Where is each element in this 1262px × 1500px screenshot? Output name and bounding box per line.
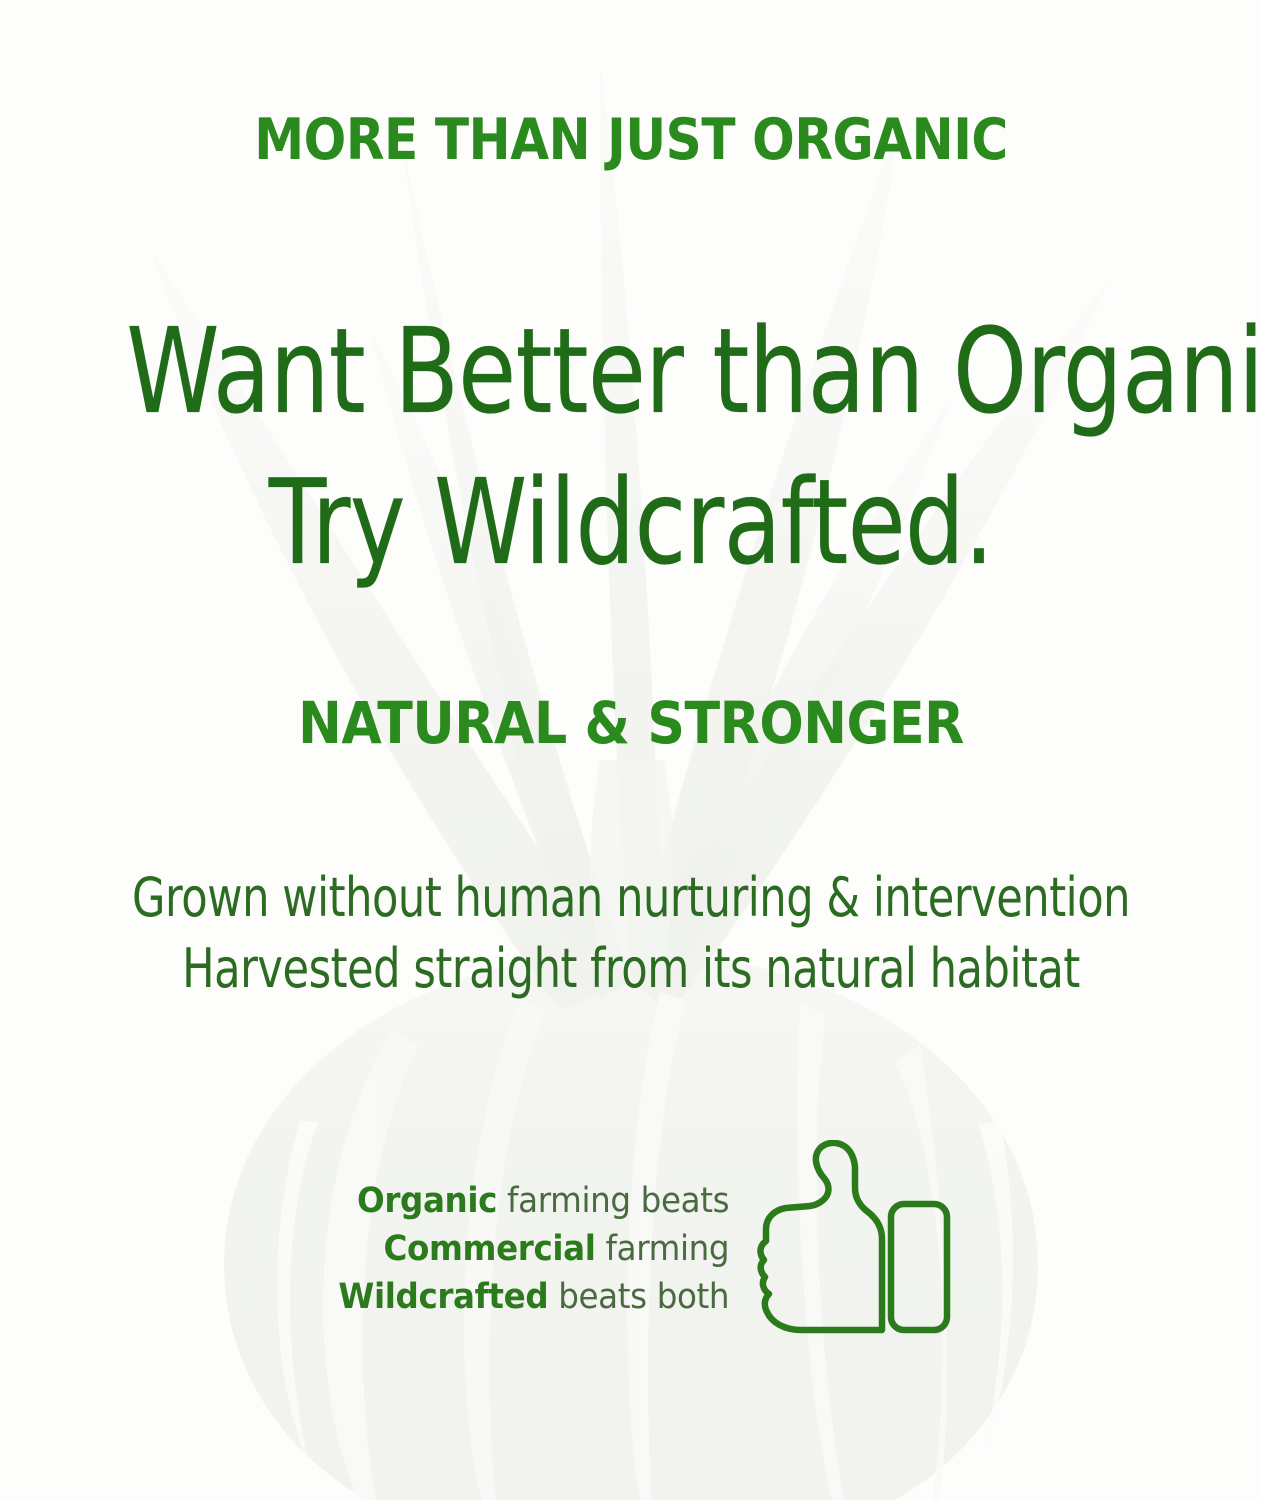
body-line-2: Harvested straight from its natural habi… [126,933,1136,1004]
thumbs-up-icon [741,1140,953,1340]
claim-row-2: Commercial farming [338,1225,729,1273]
subheading: NATURAL & STRONGER [63,694,1199,752]
headline-line-1: Want Better than Organic? [126,296,1136,447]
eyebrow-heading: MORE THAN JUST ORGANIC [76,112,1187,169]
claim-row-3-bold: Wildcrafted [338,1277,548,1317]
claim-text: Organic farming beats Commercial farming… [338,1177,729,1322]
claim-row-3-rest: beats both [548,1277,729,1317]
claim-row-1-bold: Organic [357,1181,497,1221]
body-copy: Grown without human nurturing & interven… [126,862,1136,1005]
poster-content: MORE THAN JUST ORGANIC Want Better than … [0,0,1262,1500]
claim-row-2-rest: farming [595,1229,729,1269]
claim-row-1-rest: farming beats [497,1181,729,1221]
body-line-1: Grown without human nurturing & interven… [126,862,1136,933]
claim-block: Organic farming beats Commercial farming… [0,1158,1262,1340]
headline-line-2: Try Wildcrafted. [126,447,1136,598]
claim-row-3: Wildcrafted beats both [338,1273,729,1321]
page-title: Want Better than Organic? Try Wildcrafte… [126,296,1136,598]
claim-row-2-bold: Commercial [383,1229,595,1269]
claim-row-1: Organic farming beats [338,1177,729,1225]
